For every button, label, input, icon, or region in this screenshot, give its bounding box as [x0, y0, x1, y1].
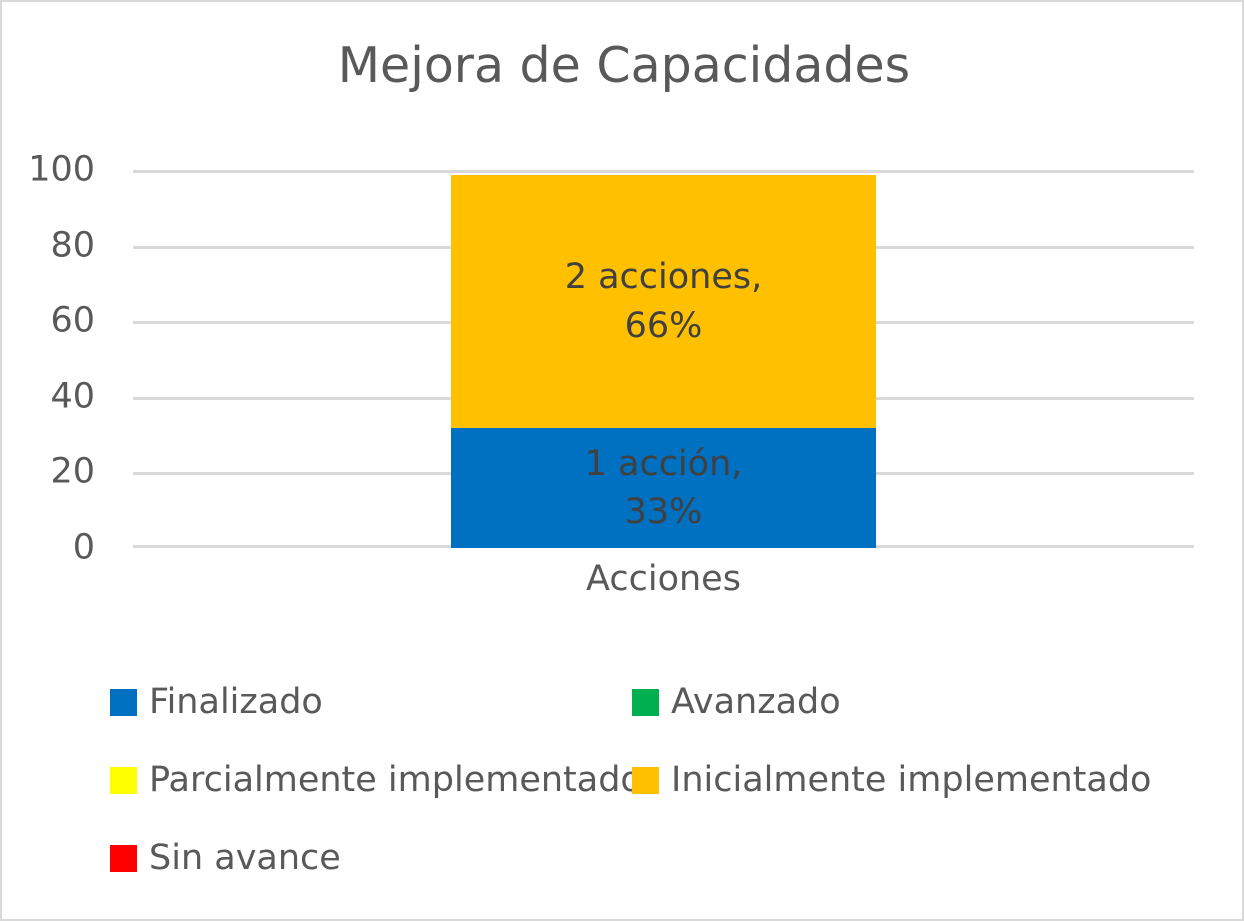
y-tick-60: 60 [5, 304, 95, 339]
chart-legend: Finalizado Avanzado Parcialmente impleme… [110, 674, 1170, 908]
bar-segment-finalizado[interactable]: 1 acción, 33% [451, 428, 876, 548]
y-tick-20: 20 [5, 455, 95, 490]
legend-item-inicialmente-implementado[interactable]: Inicialmente implementado [632, 752, 1151, 808]
gridline-100 [133, 170, 1194, 173]
bar-segment-label-inicialmente: 2 acciones, 66% [565, 253, 763, 350]
legend-item-finalizado[interactable]: Finalizado [110, 674, 632, 730]
legend-label-parcialmente-implementado: Parcialmente implementado [149, 763, 642, 798]
legend-label-inicialmente-implementado: Inicialmente implementado [671, 763, 1151, 798]
y-tick-80: 80 [5, 228, 95, 263]
bar-segment-inicialmente-implementado[interactable]: 2 acciones, 66% [451, 175, 876, 428]
y-tick-100: 100 [5, 153, 95, 188]
y-tick-40: 40 [5, 379, 95, 414]
legend-swatch-avanzado-icon [632, 689, 659, 716]
legend-item-sin-avance[interactable]: Sin avance [110, 830, 632, 886]
legend-label-avanzado: Avanzado [671, 685, 841, 720]
x-axis-category-label: Acciones [133, 560, 1194, 599]
legend-item-parcialmente-implementado[interactable]: Parcialmente implementado [110, 752, 632, 808]
legend-swatch-inicialmente-implementado-icon [632, 767, 659, 794]
legend-label-sin-avance: Sin avance [149, 841, 341, 876]
bar-segment-label-finalizado: 1 acción, 33% [585, 440, 743, 537]
legend-row-2: Parcialmente implementado Inicialmente i… [110, 752, 1170, 830]
legend-row-3: Sin avance [110, 830, 1170, 908]
legend-swatch-finalizado-icon [110, 689, 137, 716]
legend-swatch-sin-avance-icon [110, 845, 137, 872]
chart-title: Mejora de Capacidades [2, 40, 1244, 91]
legend-swatch-parcialmente-implementado-icon [110, 767, 137, 794]
legend-label-finalizado: Finalizado [149, 685, 323, 720]
legend-row-1: Finalizado Avanzado [110, 674, 1170, 752]
stacked-bar-acciones[interactable]: 2 acciones, 66% 1 acción, 33% [451, 175, 876, 548]
y-tick-0: 0 [5, 531, 95, 566]
chart-container: Mejora de Capacidades 100 80 60 40 20 0 … [0, 0, 1244, 921]
legend-item-avanzado[interactable]: Avanzado [632, 674, 841, 730]
plot-area: 2 acciones, 66% 1 acción, 33% [133, 170, 1194, 548]
